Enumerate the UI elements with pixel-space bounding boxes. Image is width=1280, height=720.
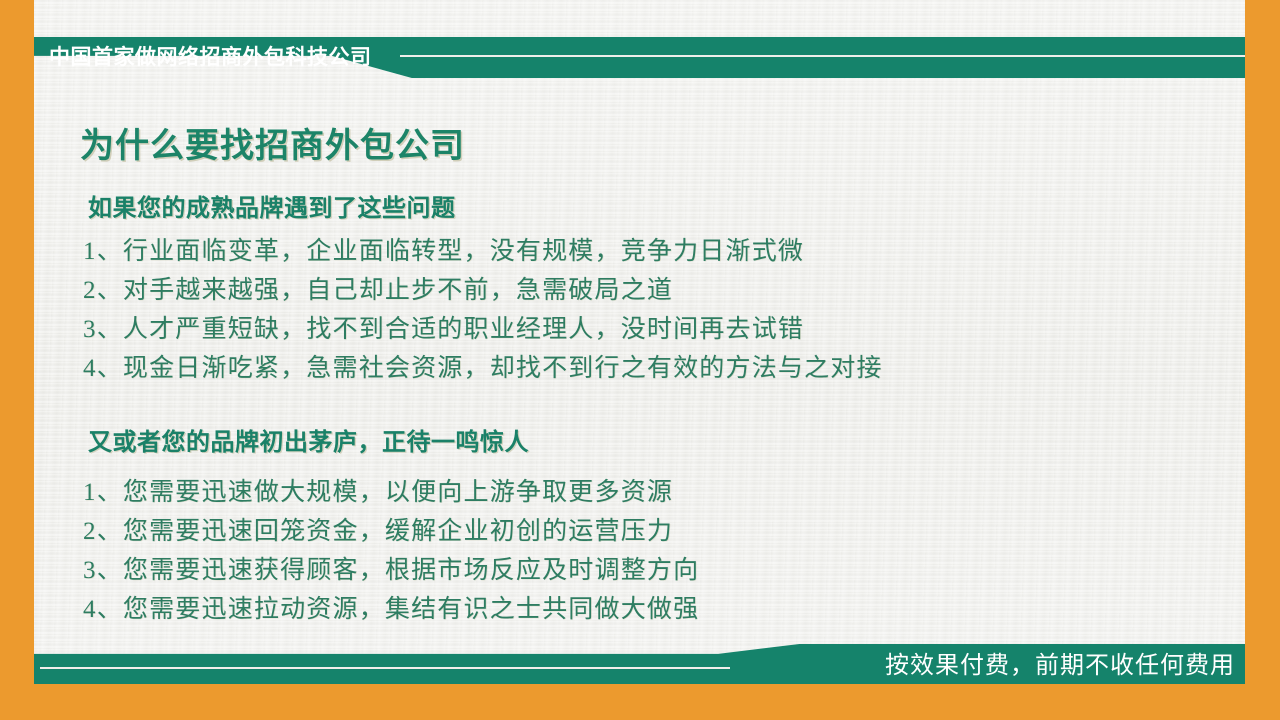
section-heading-0: 如果您的成熟品牌遇到了这些问题 xyxy=(88,188,456,223)
bullet-list-0: 1、行业面临变革，企业面临转型，没有规模，竞争力日渐式微 2、对手越来越强，自己… xyxy=(83,232,883,388)
list-item: 4、现金日渐吃紧，急需社会资源，却找不到行之有效的方法与之对接 xyxy=(83,349,883,388)
page-title: 为什么要找招商外包公司 xyxy=(80,118,465,167)
bullet-list-1: 1、您需要迅速做大规模，以便向上游争取更多资源 2、您需要迅速回笼资金，缓解企业… xyxy=(83,473,699,629)
section-heading-1: 又或者您的品牌初出茅庐，正待一鸣惊人 xyxy=(88,422,529,457)
footer-separator-line xyxy=(40,667,730,669)
header-banner-underline xyxy=(400,55,1245,57)
footer-slogan: 按效果付费，前期不收任何费用 xyxy=(885,648,1235,684)
list-item: 3、您需要迅速获得顾客，根据市场反应及时调整方向 xyxy=(83,551,699,590)
list-item: 1、您需要迅速做大规模，以便向上游争取更多资源 xyxy=(83,473,699,512)
list-item: 1、行业面临变革，企业面临转型，没有规模，竞争力日渐式微 xyxy=(83,232,883,271)
slide: 中国首家做网络招商外包科技公司 为什么要找招商外包公司 如果您的成熟品牌遇到了这… xyxy=(0,0,1280,720)
list-item: 3、人才严重短缺，找不到合适的职业经理人，没时间再去试错 xyxy=(83,310,883,349)
list-item: 4、您需要迅速拉动资源，集结有识之士共同做大做强 xyxy=(83,590,699,629)
bottom-border-strip xyxy=(0,684,1280,720)
header-banner-label: 中国首家做网络招商外包科技公司 xyxy=(49,41,372,74)
list-item: 2、您需要迅速回笼资金，缓解企业初创的运营压力 xyxy=(83,512,699,551)
list-item: 2、对手越来越强，自己却止步不前，急需破局之道 xyxy=(83,271,883,310)
